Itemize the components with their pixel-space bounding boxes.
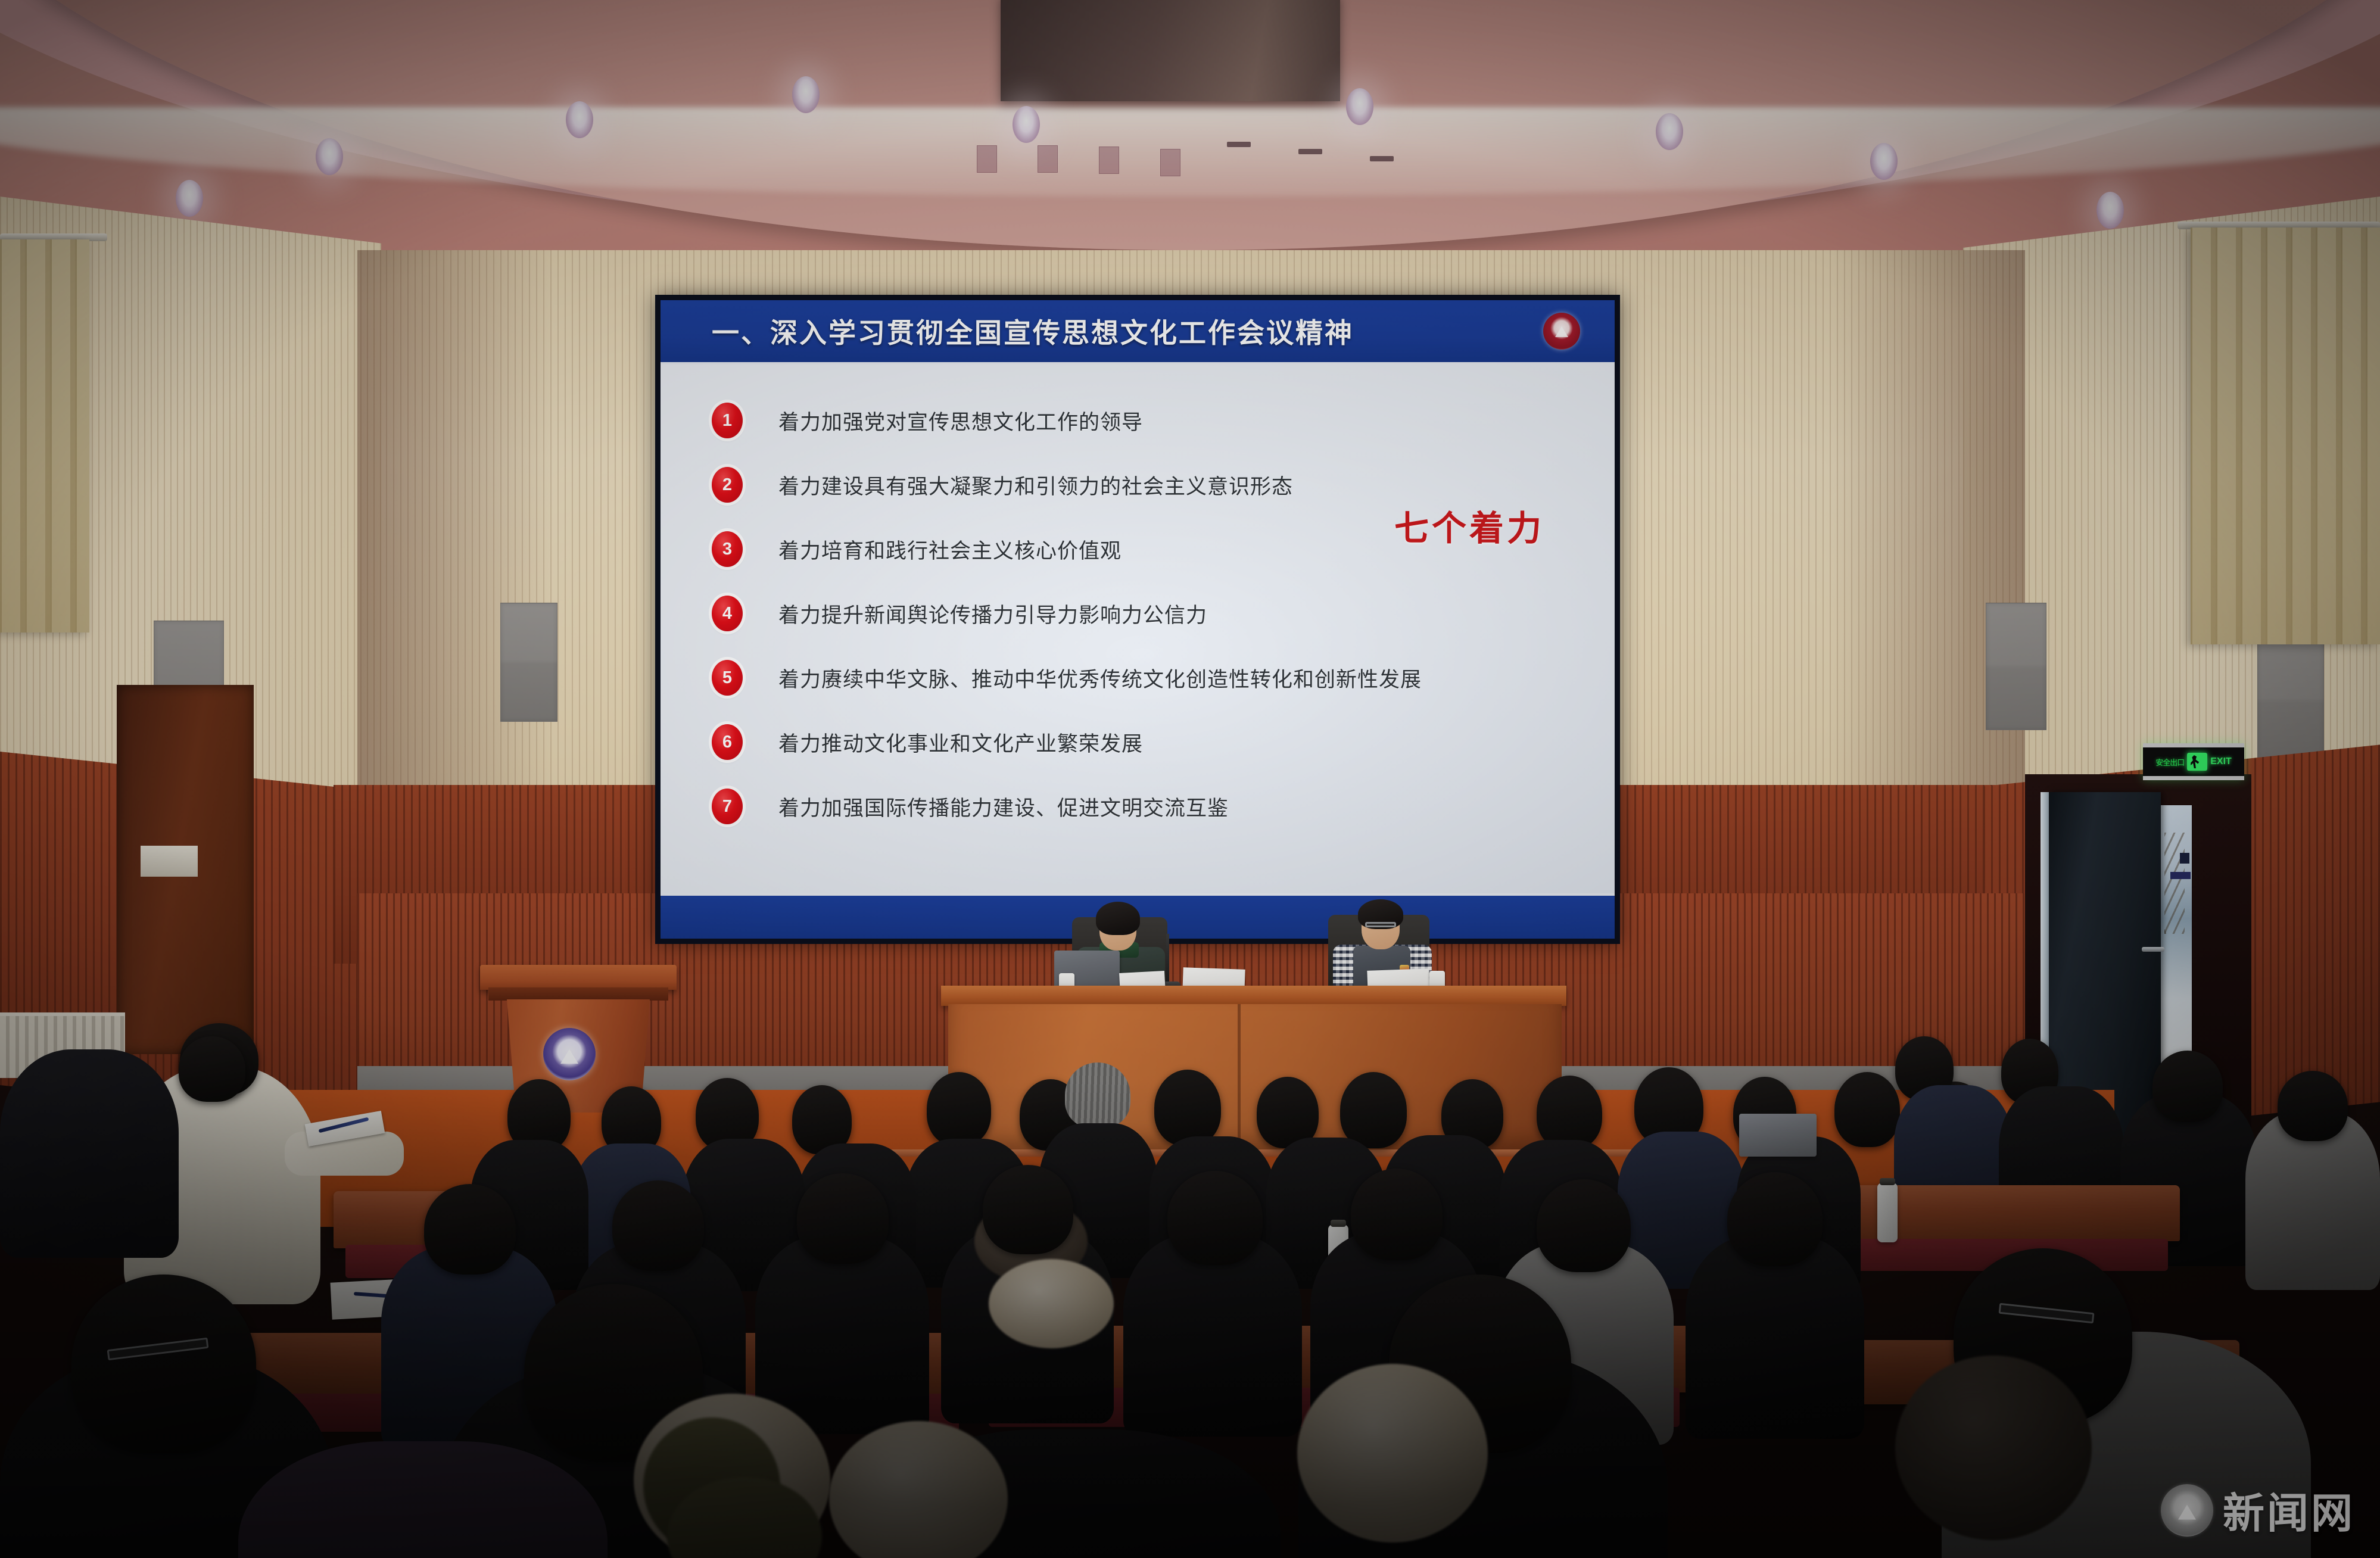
fur-hood-foreground bbox=[1895, 1356, 2092, 1540]
bullet-text: 着力推动文化事业和文化产业繁荣发展 bbox=[778, 727, 1143, 758]
audience-head bbox=[1167, 1171, 1263, 1265]
ceiling-downlight bbox=[2096, 192, 2124, 229]
slide-bullet: 5 着力赓续中华文脉、推动中华优秀传统文化创造性转化和创新性发展 bbox=[661, 646, 1615, 710]
slide-bullet: 7 着力加强国际传播能力建设、促进文明交流互鉴 bbox=[661, 774, 1615, 839]
projection-screen: 一、深入学习贯彻全国宣传思想文化工作会议精神 1 着力加强党对宣传思想文化工作的… bbox=[655, 295, 1620, 944]
audience-head bbox=[424, 1184, 516, 1275]
thermos-bottle bbox=[1877, 1183, 1898, 1242]
audience-head bbox=[927, 1072, 991, 1146]
bullet-text: 着力培育和践行社会主义核心价值观 bbox=[778, 534, 1122, 565]
acoustic-panel bbox=[500, 603, 557, 722]
slide-body: 1 着力加强党对宣传思想文化工作的领导 2 着力建设具有强大凝聚力和引领力的社会… bbox=[661, 364, 1615, 893]
bullet-number: 7 bbox=[712, 789, 743, 824]
running-person-exit-icon bbox=[2187, 753, 2207, 771]
ceiling-downlight bbox=[792, 76, 820, 113]
ceiling-downlight bbox=[1656, 113, 1683, 150]
curtain-left bbox=[0, 239, 89, 632]
bullet-number: 4 bbox=[712, 596, 743, 631]
ceiling-vent bbox=[977, 145, 997, 173]
corridor-notice bbox=[2180, 853, 2189, 864]
slide-title: 一、深入学习贯彻全国宣传思想文化工作会议精神 bbox=[712, 311, 1354, 351]
ceiling-downlight bbox=[316, 138, 343, 175]
audience-coat bbox=[755, 1235, 929, 1434]
bullet-number: 1 bbox=[712, 403, 743, 438]
audience-head bbox=[2278, 1071, 2348, 1141]
door-sign-plate bbox=[141, 846, 198, 877]
ceiling-downlight bbox=[176, 180, 203, 217]
audience-head-foreground bbox=[71, 1275, 256, 1453]
ceiling-downlight bbox=[1346, 88, 1373, 125]
audience-head bbox=[612, 1180, 704, 1271]
audience-head bbox=[1537, 1179, 1631, 1272]
audience-head bbox=[983, 1165, 1073, 1254]
audience-head bbox=[1727, 1172, 1823, 1266]
curtain-right bbox=[2191, 228, 2380, 644]
ceiling-vent bbox=[1227, 142, 1251, 147]
exit-label-cn: 安全出口 bbox=[2155, 756, 2184, 768]
fur-collar bbox=[989, 1259, 1114, 1348]
ceiling-downlight bbox=[1013, 106, 1040, 143]
corridor-sign bbox=[2170, 872, 2191, 879]
slide-header: 一、深入学习贯彻全国宣传思想文化工作会议精神 bbox=[661, 300, 1615, 364]
head-table-seam bbox=[1238, 1004, 1241, 1153]
ceiling-vent bbox=[1370, 156, 1394, 161]
ceiling-vent bbox=[1298, 149, 1322, 154]
fur-hood-foreground bbox=[1297, 1364, 1488, 1543]
acoustic-panel bbox=[1986, 603, 2046, 730]
head-table-top bbox=[941, 986, 1566, 1006]
bullet-text: 着力赓续中华文脉、推动中华优秀传统文化创造性转化和创新性发展 bbox=[778, 663, 1422, 693]
audience-head bbox=[1834, 1072, 1900, 1147]
presenter-hair bbox=[1096, 902, 1140, 935]
audience-laptop bbox=[1739, 1114, 1817, 1157]
exit-label-en: EXIT bbox=[2210, 756, 2232, 767]
audience-head bbox=[179, 1036, 245, 1102]
acoustic-panel bbox=[2257, 632, 2324, 768]
slide: 一、深入学习贯彻全国宣传思想文化工作会议精神 1 着力加强党对宣传思想文化工作的… bbox=[661, 300, 1615, 939]
presenter-glasses bbox=[1365, 922, 1396, 927]
bullet-number: 5 bbox=[712, 660, 743, 696]
watermark: 新闻网 bbox=[2161, 1480, 2355, 1540]
ceiling-vent bbox=[1099, 147, 1119, 174]
audience-head bbox=[1340, 1072, 1407, 1148]
podium-lip bbox=[488, 987, 668, 1001]
slide-bullet: 1 着力加强党对宣传思想文化工作的领导 bbox=[661, 388, 1615, 453]
slide-highlight-callout: 七个着力 bbox=[1394, 500, 1544, 550]
audience-head bbox=[1537, 1076, 1602, 1149]
audience-coat bbox=[0, 1049, 179, 1258]
university-seal-icon bbox=[1543, 313, 1580, 350]
audience-head bbox=[2152, 1051, 2223, 1122]
ceiling-downlight bbox=[1870, 143, 1898, 180]
bullet-text: 着力加强国际传播能力建设、促进文明交流互鉴 bbox=[778, 792, 1229, 822]
door-handle[interactable] bbox=[2142, 947, 2164, 952]
hvac-duct bbox=[1001, 0, 1340, 101]
bullet-number: 3 bbox=[712, 531, 743, 567]
microphone-stem bbox=[1166, 934, 1169, 989]
audience-beanie-hat bbox=[1065, 1062, 1130, 1128]
slide-bullet: 6 着力推动文化事业和文化产业繁荣发展 bbox=[661, 710, 1615, 774]
ceiling-downlight bbox=[566, 101, 593, 138]
bullet-text: 着力建设具有强大凝聚力和引领力的社会主义意识形态 bbox=[778, 470, 1293, 500]
audience-head bbox=[1154, 1070, 1221, 1146]
bullet-number: 2 bbox=[712, 467, 743, 503]
watermark-text: 新闻网 bbox=[2223, 1480, 2355, 1540]
bullet-number: 6 bbox=[712, 724, 743, 760]
university-seal-icon bbox=[543, 1028, 596, 1080]
bullet-text: 着力提升新闻舆论传播力引导力影响力公信力 bbox=[778, 599, 1207, 629]
emergency-exit-sign: 安全出口 EXIT bbox=[2143, 743, 2244, 780]
ceiling-vent bbox=[1038, 145, 1058, 173]
north-china-university-of-technology-seal-icon bbox=[2161, 1484, 2213, 1537]
audience-head bbox=[797, 1173, 889, 1264]
podium-top bbox=[480, 965, 677, 990]
bullet-text: 着力加强党对宣传思想文化工作的领导 bbox=[778, 406, 1143, 436]
ceiling-vent bbox=[1160, 149, 1180, 176]
audience-head bbox=[1351, 1168, 1443, 1260]
slide-bullet: 4 着力提升新闻舆论传播力引导力影响力公信力 bbox=[661, 581, 1615, 646]
lecture-hall-scene: 安全出口 EXIT 一、深入学习贯彻全国宣传思想文化工作会议精神 1 着力加强党… bbox=[0, 0, 2380, 1558]
